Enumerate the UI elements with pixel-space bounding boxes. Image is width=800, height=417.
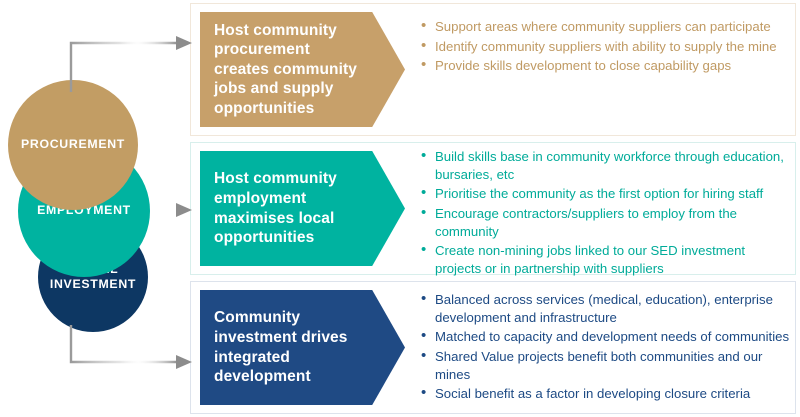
list-item: Social benefit as a factor in developing… xyxy=(420,385,790,403)
chevron-employment[interactable]: Host community employment maximises loca… xyxy=(200,151,405,266)
bullet-list-employment: Build skills base in community workforce… xyxy=(420,148,790,280)
list-item: Matched to capacity and development need… xyxy=(420,328,790,346)
circle-label-social-line2: INVESTMENT xyxy=(50,277,136,292)
employment-connector-arrow xyxy=(146,203,192,217)
chevron-heading-social-investment: Community investment drives integrated d… xyxy=(214,308,369,386)
circle-label-procurement: PROCUREMENT xyxy=(21,137,125,152)
list-item: Identify community suppliers with abilit… xyxy=(420,38,790,56)
list-item: Create non-mining jobs linked to our SED… xyxy=(420,242,790,277)
socio-economic-diagram: SOCIAL INVESTMENT EMPLOYMENT PROCUREMENT… xyxy=(0,0,800,417)
list-item: Balanced across services (medical, educa… xyxy=(420,291,790,326)
chevron-social-investment[interactable]: Community investment drives integrated d… xyxy=(200,290,405,405)
list-item: Encourage contractors/suppliers to emplo… xyxy=(420,205,790,240)
bullet-list-procurement: Support areas where community suppliers … xyxy=(420,18,790,77)
chevron-heading-procurement: Host community procurement creates commu… xyxy=(214,21,369,119)
chevron-procurement[interactable]: Host community procurement creates commu… xyxy=(200,12,405,127)
list-item: Prioritise the community as the first op… xyxy=(420,185,790,203)
list-item: Support areas where community suppliers … xyxy=(420,18,790,36)
list-item: Shared Value projects benefit both commu… xyxy=(420,348,790,383)
list-item: Provide skills development to close capa… xyxy=(420,57,790,75)
bullet-list-social-investment: Balanced across services (medical, educa… xyxy=(420,291,790,405)
list-item: Build skills base in community workforce… xyxy=(420,148,790,183)
circle-procurement[interactable]: PROCUREMENT xyxy=(8,80,138,210)
chevron-heading-employment: Host community employment maximises loca… xyxy=(214,169,369,247)
